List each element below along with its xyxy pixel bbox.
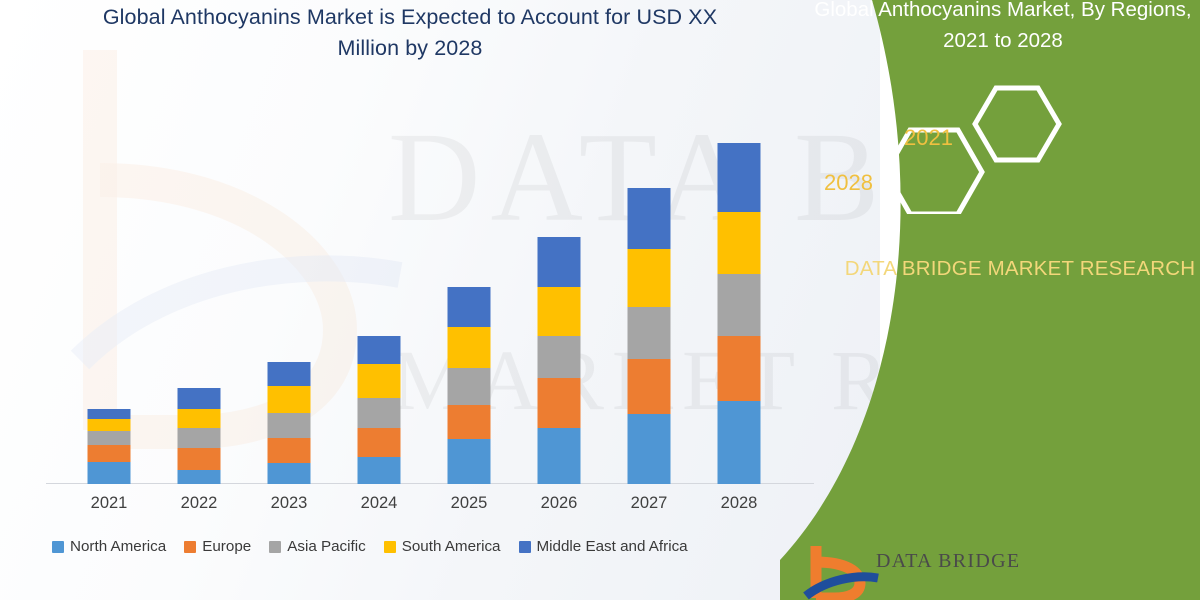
- corner-logo: DATA BRIDGE: [802, 540, 1042, 600]
- x-tick-label-2027: 2027: [604, 494, 694, 513]
- legend-swatch-icon: [384, 541, 396, 553]
- bar-segment-europe: [628, 359, 671, 414]
- x-tick-label-2024: 2024: [334, 494, 424, 513]
- bar-column-2025: [424, 120, 514, 484]
- legend-label: Middle East and Africa: [537, 538, 688, 555]
- legend-swatch-icon: [269, 541, 281, 553]
- bar-segment-north-america: [358, 457, 401, 484]
- bar-segment-europe: [268, 438, 311, 463]
- bar-column-2026: [514, 120, 604, 484]
- bar-segment-south-america: [628, 249, 671, 307]
- region-panel-heading: Global Anthocyanins Market, By Regions, …: [806, 0, 1200, 56]
- bar-segment-south-america: [358, 364, 401, 398]
- corner-logo-text: DATA BRIDGE: [876, 550, 1020, 573]
- bar-column-2028: [694, 120, 784, 484]
- bar-segment-south-america: [538, 287, 581, 336]
- stacked-bar: [358, 336, 401, 484]
- stacked-bar: [448, 287, 491, 484]
- legend-item-asia-pacific[interactable]: Asia Pacific: [269, 538, 366, 555]
- infographic-root: DATA BRIDGE MARKET RESEARCH Global Antho…: [0, 0, 1200, 600]
- hexagon-2021-outline: [975, 88, 1059, 160]
- bar-segment-europe: [358, 428, 401, 457]
- bar-segment-asia-pacific: [268, 413, 311, 438]
- legend-label: South America: [402, 538, 501, 555]
- legend-swatch-icon: [184, 541, 196, 553]
- stacked-bar: [718, 143, 761, 484]
- x-tick-label-2021: 2021: [64, 494, 154, 513]
- bar-segment-north-america: [628, 414, 671, 484]
- bar-segment-europe: [538, 378, 581, 428]
- bar-segment-asia-pacific: [358, 398, 401, 428]
- bar-segment-south-america: [448, 327, 491, 368]
- bar-segment-middle-east-and-africa: [268, 362, 311, 386]
- bar-segment-asia-pacific: [88, 431, 131, 445]
- bar-segment-middle-east-and-africa: [628, 188, 671, 249]
- bar-segment-middle-east-and-africa: [448, 287, 491, 327]
- bar-segment-asia-pacific: [628, 307, 671, 359]
- bar-segment-middle-east-and-africa: [718, 143, 761, 212]
- bar-segment-north-america: [88, 462, 131, 484]
- stacked-bar: [268, 362, 311, 484]
- bar-segment-north-america: [718, 401, 761, 484]
- bar-column-2022: [154, 120, 244, 484]
- legend-item-europe[interactable]: Europe: [184, 538, 251, 555]
- bar-segment-middle-east-and-africa: [88, 409, 131, 419]
- x-tick-label-2026: 2026: [514, 494, 604, 513]
- hexagon-2021-label: 2021: [904, 125, 953, 151]
- bar-segment-north-america: [538, 428, 581, 484]
- stacked-bar: [538, 237, 581, 484]
- bar-column-2023: [244, 120, 334, 484]
- bar-segment-europe: [178, 448, 221, 470]
- stacked-bar: [88, 409, 131, 484]
- x-tick-label-2023: 2023: [244, 494, 334, 513]
- bar-segment-middle-east-and-africa: [178, 388, 221, 409]
- bar-column-2021: [64, 120, 154, 484]
- legend-label: Asia Pacific: [287, 538, 366, 555]
- bar-segment-north-america: [178, 470, 221, 484]
- bar-segment-south-america: [268, 386, 311, 413]
- bar-segment-asia-pacific: [448, 368, 491, 405]
- chart-panel: DATA BRIDGE MARKET RESEARCH Global Antho…: [0, 0, 880, 600]
- region-panel: Global Anthocyanins Market, By Regions, …: [780, 0, 1200, 600]
- legend-swatch-icon: [519, 541, 531, 553]
- bar-segment-europe: [448, 405, 491, 439]
- bar-segment-europe: [718, 336, 761, 401]
- bar-column-2027: [604, 120, 694, 484]
- bar-segment-south-america: [718, 212, 761, 274]
- chart-legend: North AmericaEuropeAsia PacificSouth Ame…: [46, 538, 816, 555]
- x-tick-label-2022: 2022: [154, 494, 244, 513]
- bar-segment-asia-pacific: [718, 274, 761, 336]
- page-title: Global Anthocyanins Market is Expected t…: [90, 2, 730, 64]
- hexagon-2028-label: 2028: [824, 170, 873, 196]
- bar-segment-north-america: [268, 463, 311, 484]
- legend-item-south-america[interactable]: South America: [384, 538, 501, 555]
- bar-segment-north-america: [448, 439, 491, 484]
- legend-item-north-america[interactable]: North America: [52, 538, 166, 555]
- bar-segment-south-america: [88, 419, 131, 431]
- stacked-bar: [178, 388, 221, 484]
- legend-item-middle-east-and-africa[interactable]: Middle East and Africa: [519, 538, 688, 555]
- legend-swatch-icon: [52, 541, 64, 553]
- x-tick-label-2028: 2028: [694, 494, 784, 513]
- stacked-bar: [628, 188, 671, 484]
- bar-segment-asia-pacific: [178, 428, 221, 448]
- legend-label: Europe: [202, 538, 251, 555]
- legend-label: North America: [70, 538, 166, 555]
- x-tick-label-2025: 2025: [424, 494, 514, 513]
- bar-segment-south-america: [178, 409, 221, 428]
- brand-name: DATA BRIDGE MARKET RESEARCH: [840, 254, 1200, 284]
- x-axis-labels: 20212022202320242025202620272028: [46, 494, 806, 520]
- bar-segment-middle-east-and-africa: [358, 336, 401, 364]
- bar-column-2024: [334, 120, 424, 484]
- bar-segment-middle-east-and-africa: [538, 237, 581, 287]
- plot-area: [46, 120, 806, 484]
- bar-segment-europe: [88, 445, 131, 462]
- bar-segment-asia-pacific: [538, 336, 581, 378]
